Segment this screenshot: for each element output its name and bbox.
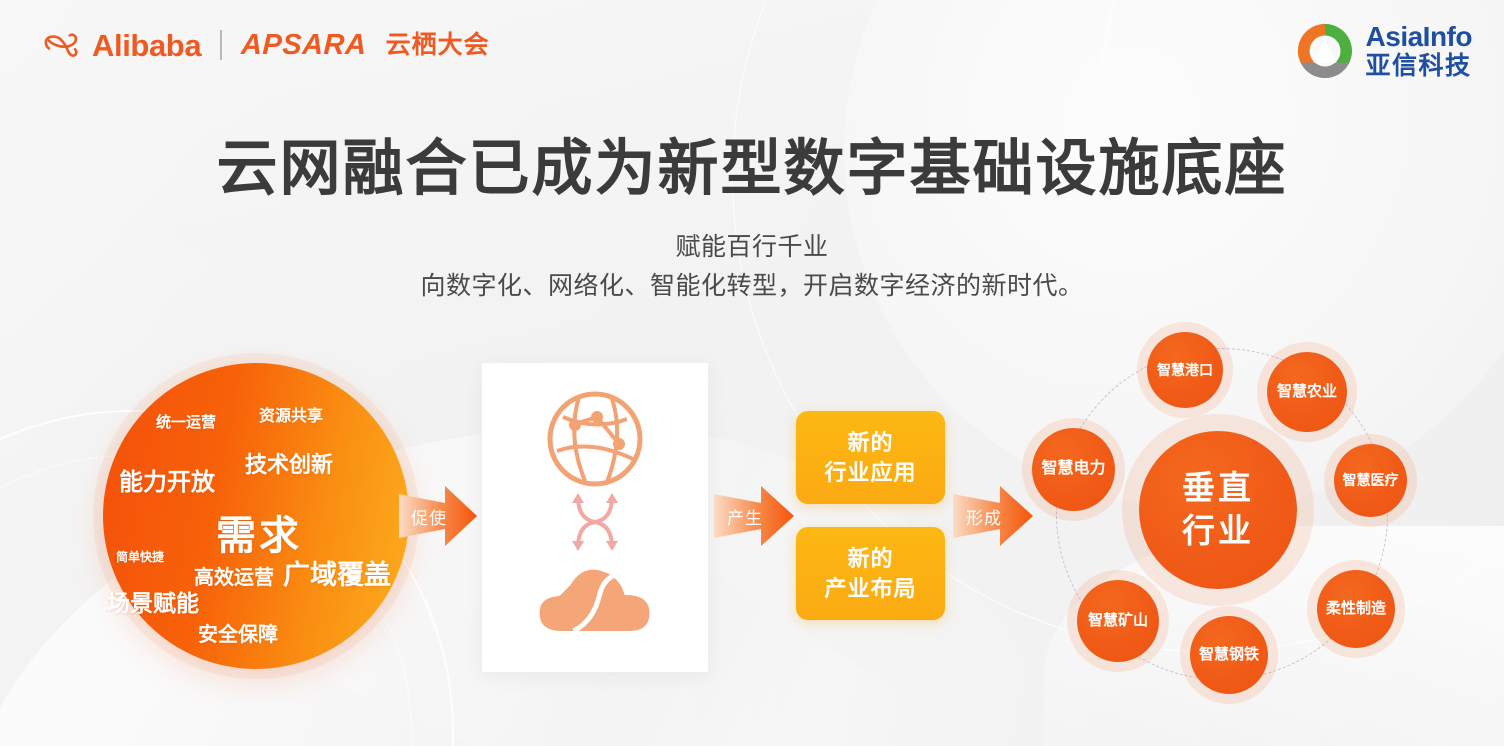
outcome-box-industrial-layout: 新的 产业布局 bbox=[796, 527, 945, 620]
keyword-resource-sharing: 资源共享 bbox=[259, 402, 323, 426]
industry-node-smart-port[interactable]: 智慧港口 bbox=[1147, 332, 1223, 408]
outcome-box-2-line-1: 新的 bbox=[847, 544, 893, 573]
keyword-capability-opening: 能力开放 bbox=[119, 462, 215, 497]
outcome-box-2-line-2: 产业布局 bbox=[824, 574, 916, 603]
alibaba-mark-icon bbox=[42, 28, 82, 62]
industry-node-flexible-manufacturing[interactable]: 柔性制造 bbox=[1317, 570, 1395, 648]
logo-divider bbox=[220, 30, 222, 60]
industry-node-smart-power[interactable]: 智慧电力 bbox=[1032, 428, 1115, 511]
cloud-network-card bbox=[481, 362, 709, 673]
industry-center-line-2: 行业 bbox=[1182, 510, 1254, 553]
keyword-efficient-operation: 高效运营 bbox=[194, 561, 274, 590]
arrow-label-promote: 促使 bbox=[399, 504, 477, 529]
demand-sphere: 统一运营 资源共享 技术创新 能力开放 需求 简单快捷 高效运营 广域覆盖 场景… bbox=[103, 363, 409, 669]
asiainfo-logo: AsiaInfo 亚信科技 bbox=[1296, 22, 1472, 80]
keyword-wide-coverage: 广域覆盖 bbox=[283, 553, 391, 592]
vertical-industry-cluster: 垂直 行业 智慧港口 智慧农业 智慧医疗 柔性制造 智慧钢铁 智慧矿山 智慧电力 bbox=[1014, 316, 1480, 716]
asiainfo-chinese-name: 亚信科技 bbox=[1366, 54, 1472, 79]
bidirectional-cross-arrows-icon bbox=[569, 491, 621, 553]
outcome-box-1-line-2: 行业应用 bbox=[824, 458, 916, 487]
flow-arrow-promote: 促使 bbox=[399, 480, 477, 552]
outcome-box-1-line-1: 新的 bbox=[847, 428, 893, 457]
keyword-simple-fast: 简单快捷 bbox=[116, 548, 164, 565]
arrow-label-generate: 产生 bbox=[714, 504, 794, 529]
industry-center-line-1: 垂直 bbox=[1182, 467, 1254, 510]
keyword-scenario-enablement: 场景赋能 bbox=[107, 584, 199, 618]
industry-node-smart-steel[interactable]: 智慧钢铁 bbox=[1190, 616, 1268, 694]
outcome-box-industry-application: 新的 行业应用 bbox=[796, 411, 945, 504]
arrow-label-form: 形成 bbox=[953, 504, 1033, 529]
network-globe-icon bbox=[545, 389, 645, 489]
page-title: 云网融合已成为新型数字基础设施底座 bbox=[0, 118, 1504, 207]
subtitle-line-1: 赋能百行千业 bbox=[0, 228, 1504, 267]
slide-canvas: Alibaba APSARA 云栖大会 AsiaInfo 亚信科技 云网融合已成… bbox=[0, 0, 1504, 746]
asiainfo-english-name: AsiaInfo bbox=[1366, 23, 1472, 51]
apsara-chinese-label: 云栖大会 bbox=[386, 33, 490, 58]
keyword-tech-innovation: 技术创新 bbox=[245, 447, 333, 479]
industry-node-smart-mining[interactable]: 智慧矿山 bbox=[1077, 580, 1159, 662]
asiainfo-ring-icon bbox=[1296, 22, 1354, 80]
apsara-wordmark: APSARA bbox=[241, 31, 367, 60]
industry-node-smart-agriculture[interactable]: 智慧农业 bbox=[1267, 352, 1347, 432]
subtitle-line-2: 向数字化、网络化、智能化转型，开启数字经济的新时代。 bbox=[0, 267, 1504, 306]
alibaba-wordmark: Alibaba bbox=[92, 30, 201, 61]
cloud-icon bbox=[538, 565, 653, 633]
alibaba-apsara-logo: Alibaba APSARA 云栖大会 bbox=[42, 28, 490, 62]
keyword-unified-operation: 统一运营 bbox=[156, 411, 216, 432]
industry-node-smart-healthcare[interactable]: 智慧医疗 bbox=[1334, 444, 1407, 517]
keyword-security-assurance: 安全保障 bbox=[198, 618, 278, 647]
page-subtitle: 赋能百行千业 向数字化、网络化、智能化转型，开启数字经济的新时代。 bbox=[0, 228, 1504, 306]
flow-arrow-generate: 产生 bbox=[714, 480, 794, 552]
industry-center-node: 垂直 行业 bbox=[1139, 431, 1297, 589]
